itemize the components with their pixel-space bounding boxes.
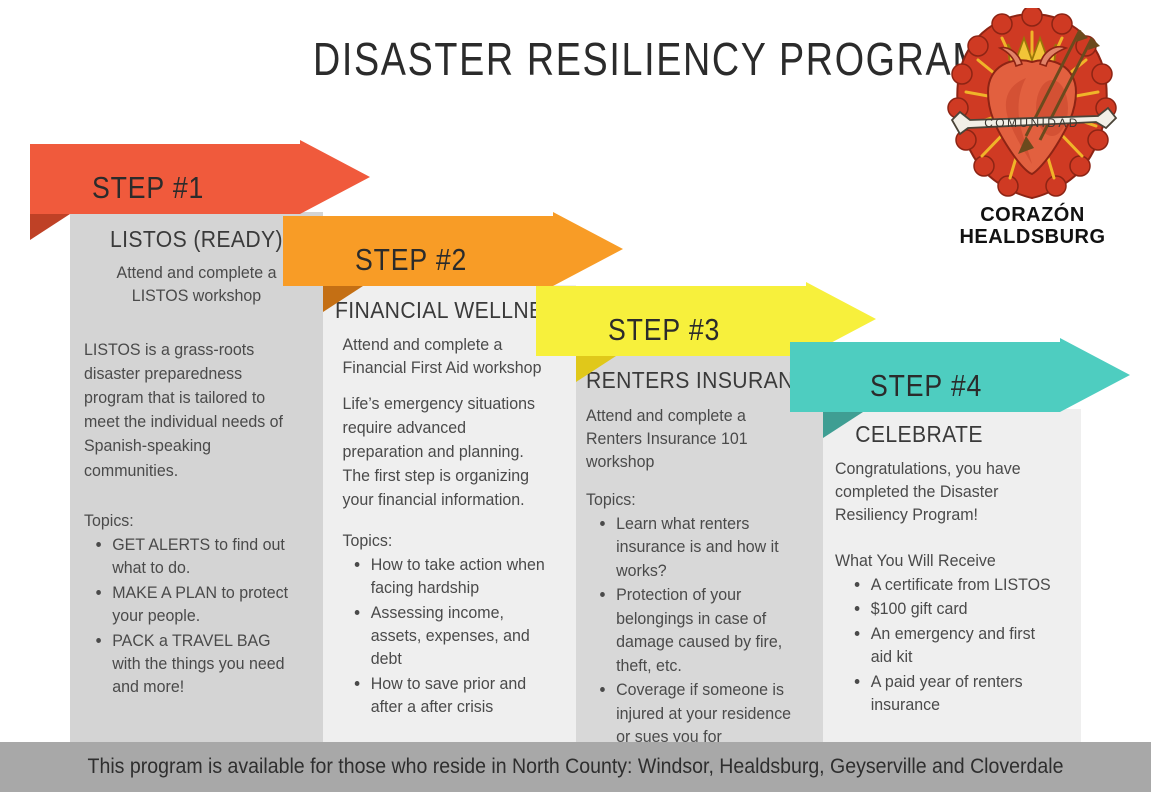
arrow-fold-2	[323, 286, 363, 312]
infographic-canvas: DISASTER RESILIENCY PROGRAM	[0, 0, 1151, 792]
step-panel-4: CELEBRATE Congratulations, you have comp…	[823, 409, 1081, 742]
arrow-fold-1	[30, 214, 70, 240]
step-1-body: LISTOS is a grass-roots disaster prepare…	[84, 338, 296, 483]
list-item: A paid year of renters insurance	[871, 670, 1055, 717]
logo-line-1: CORAZÓN	[930, 204, 1135, 226]
step-2-arrow-label: STEP #2	[355, 242, 467, 278]
footer-banner: This program is available for those who …	[0, 742, 1151, 792]
step-4-bullets: A certificate from LISTOS $100 gift card…	[835, 573, 1055, 717]
step-3-list-label: Topics:	[586, 488, 799, 512]
list-item: An emergency and first aid kit	[871, 622, 1055, 669]
logo: COMUNIDAD CORAZÓN HEALDSBURG	[930, 8, 1135, 258]
step-1-list-label: Topics:	[84, 509, 296, 533]
banner-text: COMUNIDAD	[984, 116, 1080, 130]
step-4-list-label: What You Will Receive	[835, 549, 1055, 573]
list-item: Assessing income, assets, expenses, and …	[371, 601, 551, 671]
step-2-bullets: How to take action when facing hardship …	[335, 553, 550, 719]
logo-line-2: HEALDSBURG	[930, 226, 1135, 248]
logo-wordmark: CORAZÓN HEALDSBURG	[930, 204, 1135, 249]
list-item: $100 gift card	[871, 597, 1055, 620]
step-2-subtitle: Attend and complete a Financial First Ai…	[335, 334, 550, 380]
footer-text: This program is available for those who …	[40, 755, 1110, 779]
step-1-bullets: GET ALERTS to find out what to do. MAKE …	[84, 533, 296, 699]
step-1-subtitle: Attend and complete a LISTOS workshop	[91, 262, 303, 308]
step-panel-3: RENTERS INSURANCE Attend and complete a …	[576, 355, 823, 742]
list-item: A certificate from LISTOS	[871, 573, 1055, 596]
step-3-arrow-label: STEP #3	[608, 312, 720, 348]
list-item: Protection of your belongings in case of…	[616, 583, 799, 677]
arrow-fold-3	[576, 356, 616, 382]
step-2-list-label: Topics:	[335, 529, 550, 553]
step-arrow-4: STEP #4	[790, 338, 1130, 438]
step-3-subtitle: Attend and complete a Renters Insurance …	[586, 405, 799, 474]
list-item: How to save prior and after a after cris…	[371, 672, 551, 719]
step-2-body: Life’s emergency situations require adva…	[335, 392, 550, 513]
step-4-arrow-label: STEP #4	[870, 368, 982, 404]
sacred-heart-icon: COMUNIDAD	[930, 8, 1135, 208]
page-title: DISASTER RESILIENCY PROGRAM	[313, 32, 887, 86]
arrow-fold-4	[823, 412, 863, 438]
list-item: GET ALERTS to find out what to do.	[112, 533, 295, 580]
step-3-bullets: Learn what renters insurance is and how …	[586, 512, 799, 772]
list-item: PACK a TRAVEL BAG with the things you ne…	[112, 629, 295, 699]
step-4-subtitle: Congratulations, you have completed the …	[835, 458, 1055, 527]
list-item: Learn what renters insurance is and how …	[616, 512, 799, 582]
step-1-arrow-label: STEP #1	[92, 170, 204, 206]
list-item: MAKE A PLAN to protect your people.	[112, 581, 295, 628]
list-item: How to take action when facing hardship	[371, 553, 551, 600]
